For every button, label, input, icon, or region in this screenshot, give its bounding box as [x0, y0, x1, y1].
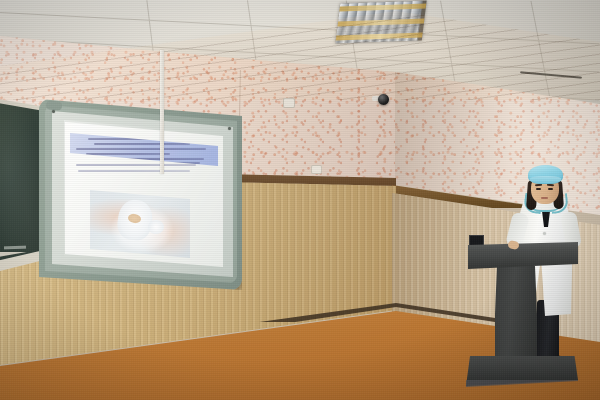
chalkboard [0, 102, 44, 262]
whiteboard-screw [52, 110, 55, 113]
dome-camera-icon [378, 94, 389, 105]
wall-socket-lower[interactable] [311, 165, 322, 174]
presenter-coat-button [543, 232, 546, 235]
whiteboard-screw [228, 127, 231, 130]
presenter-eye [548, 188, 553, 190]
slide-text-line [78, 170, 190, 172]
wall-socket-upper[interactable] [283, 98, 295, 108]
presenter-eye [536, 188, 541, 190]
classroom-presentation-photo [0, 0, 600, 400]
presenter-mouth [541, 197, 548, 199]
slide-photo-cloth-knot [148, 220, 164, 234]
lectern-column [495, 266, 537, 362]
presenter-cap-band [530, 176, 561, 183]
slide-text-line [76, 164, 196, 166]
chalk-smudges [0, 102, 44, 262]
cable-conduit [160, 50, 164, 174]
